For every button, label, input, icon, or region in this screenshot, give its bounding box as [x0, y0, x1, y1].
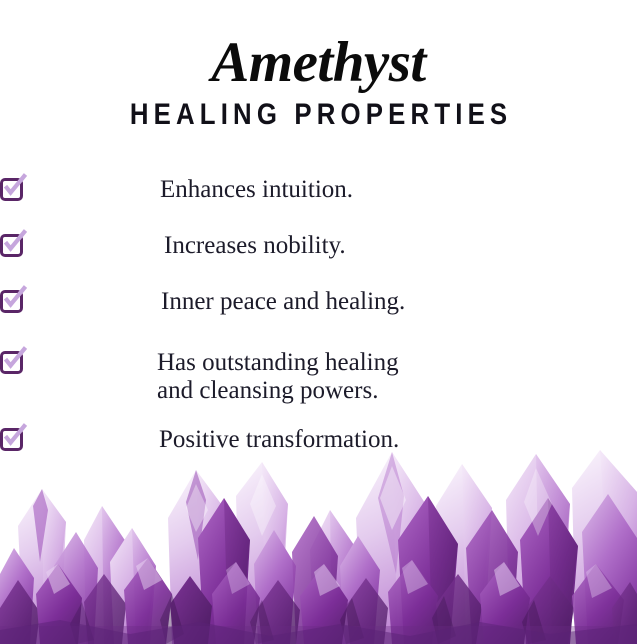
checked-checkbox-icon[interactable] [0, 426, 24, 450]
page-title: Amethyst [0, 0, 637, 91]
list-item-label: Positive transformation. [159, 426, 637, 454]
checked-checkbox-icon[interactable] [0, 176, 24, 200]
list-item-label-line-2: and cleansing powers. [157, 377, 399, 405]
list-item-label: Inner peace and healing. [161, 288, 637, 316]
amethyst-healing-properties-poster: Amethyst HEALING PROPERTIES Enhances int… [0, 0, 637, 644]
list-item-label: Enhances intuition. [160, 176, 637, 204]
list-item[interactable]: Enhances intuition. [0, 176, 637, 204]
list-item[interactable]: Increases nobility. [0, 232, 637, 260]
list-item-label: Increases nobility. [164, 232, 637, 260]
amethyst-crystal-cluster-image [0, 444, 637, 644]
checked-checkbox-icon[interactable] [0, 232, 24, 256]
checked-checkbox-icon[interactable] [0, 349, 24, 373]
list-item[interactable]: Has outstanding healing and cleansing po… [0, 349, 637, 405]
list-item[interactable]: Positive transformation. [0, 426, 637, 454]
page-subtitle: HEALING PROPERTIES [45, 91, 593, 130]
poster-header: Amethyst HEALING PROPERTIES [0, 0, 637, 130]
checked-checkbox-icon[interactable] [0, 288, 24, 312]
list-item-label-line-1: Has outstanding healing [157, 349, 399, 377]
list-item[interactable]: Inner peace and healing. [0, 288, 637, 316]
